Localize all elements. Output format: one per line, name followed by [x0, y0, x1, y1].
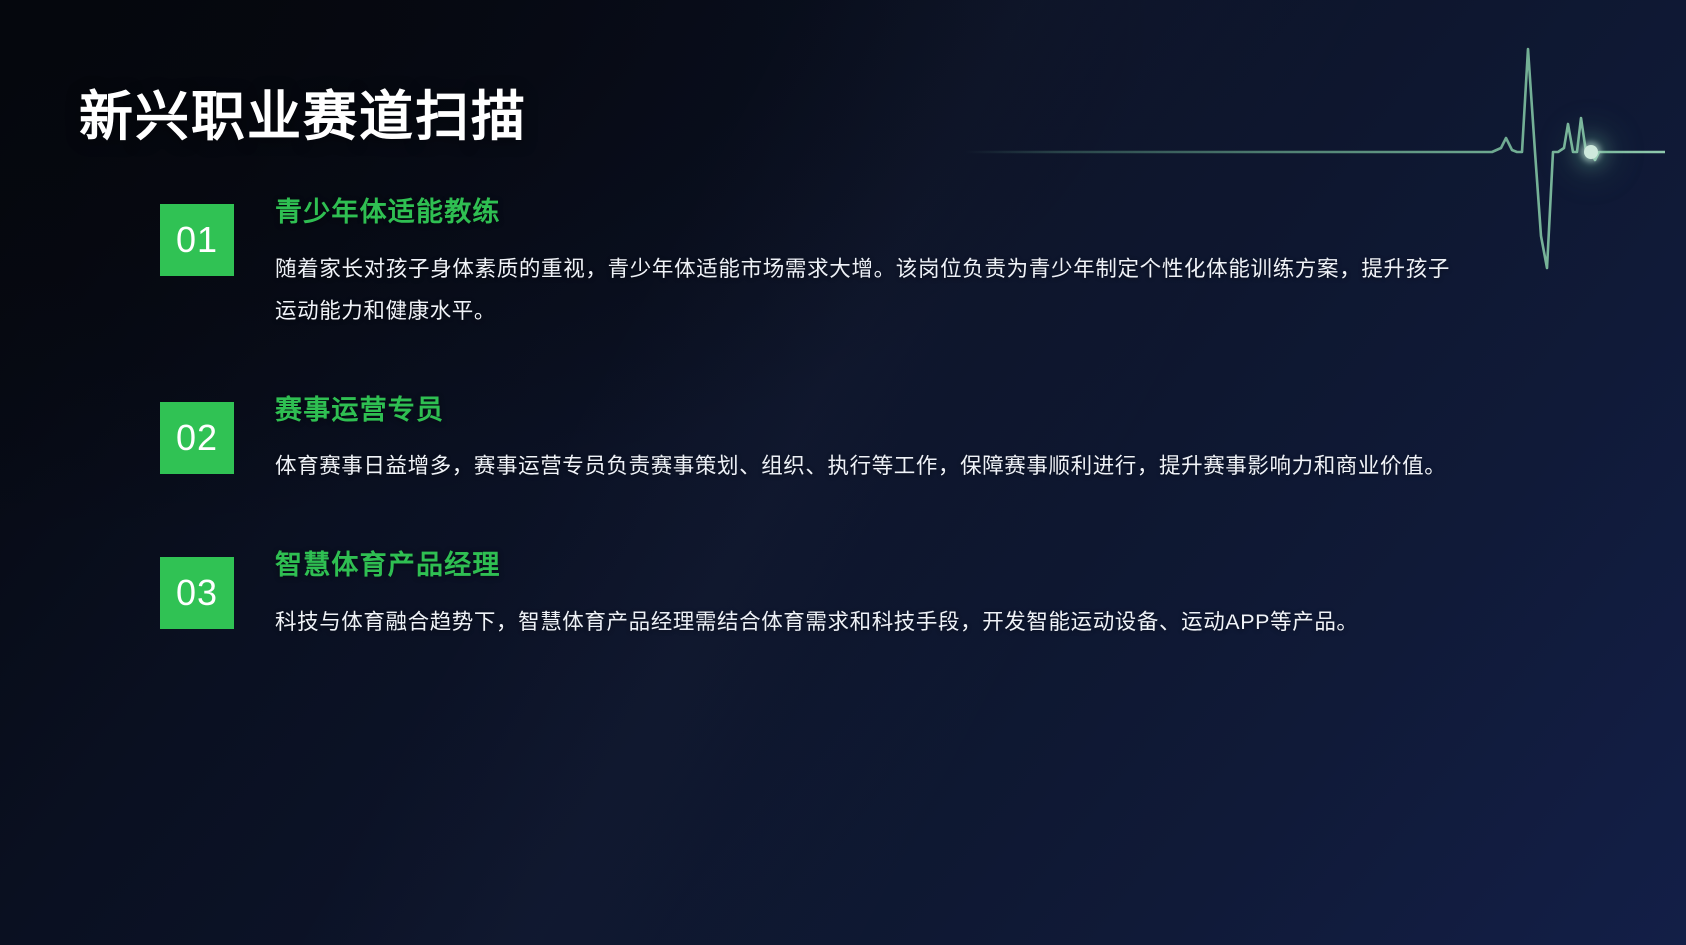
item-number-badge: 02 [160, 402, 234, 474]
item-number-label: 02 [176, 420, 218, 456]
slide-canvas: 新兴职业赛道扫描 01 青少年体适能教练 随着家长对孩子身体素质的重视，青少年体… [0, 0, 1686, 945]
item-body: 赛事运营专员 体育赛事日益增多，赛事运营专员负责赛事策划、组织、执行等工作，保障… [275, 396, 1500, 489]
page-title: 新兴职业赛道扫描 [79, 72, 527, 151]
list-item: 03 智慧体育产品经理 科技与体育融合趋势下，智慧体育产品经理需结合体育需求和科… [160, 551, 1500, 644]
item-body: 智慧体育产品经理 科技与体育融合趋势下，智慧体育产品经理需结合体育需求和科技手段… [275, 551, 1500, 644]
item-number-label: 03 [176, 575, 218, 611]
item-description: 科技与体育融合趋势下，智慧体育产品经理需结合体育需求和科技手段，开发智能运动设备… [275, 602, 1450, 644]
item-body: 青少年体适能教练 随着家长对孩子身体素质的重视，青少年体适能市场需求大增。该岗位… [275, 198, 1500, 333]
item-description: 随着家长对孩子身体素质的重视，青少年体适能市场需求大增。该岗位负责为青少年制定个… [275, 249, 1450, 333]
list-item: 01 青少年体适能教练 随着家长对孩子身体素质的重视，青少年体适能市场需求大增。… [160, 198, 1500, 333]
item-title: 赛事运营专员 [275, 396, 1500, 426]
ecg-pulse-dot [1584, 145, 1598, 159]
item-number-badge: 03 [160, 557, 234, 629]
profession-list: 01 青少年体适能教练 随着家长对孩子身体素质的重视，青少年体适能市场需求大增。… [160, 196, 1500, 644]
list-item: 02 赛事运营专员 体育赛事日益增多，赛事运营专员负责赛事策划、组织、执行等工作… [160, 396, 1500, 489]
item-title: 智慧体育产品经理 [275, 551, 1500, 581]
item-title: 青少年体适能教练 [275, 198, 1500, 228]
item-number-badge: 01 [160, 204, 234, 276]
item-number-label: 01 [176, 222, 218, 258]
item-description: 体育赛事日益增多，赛事运营专员负责赛事策划、组织、执行等工作，保障赛事顺利进行，… [275, 446, 1450, 488]
